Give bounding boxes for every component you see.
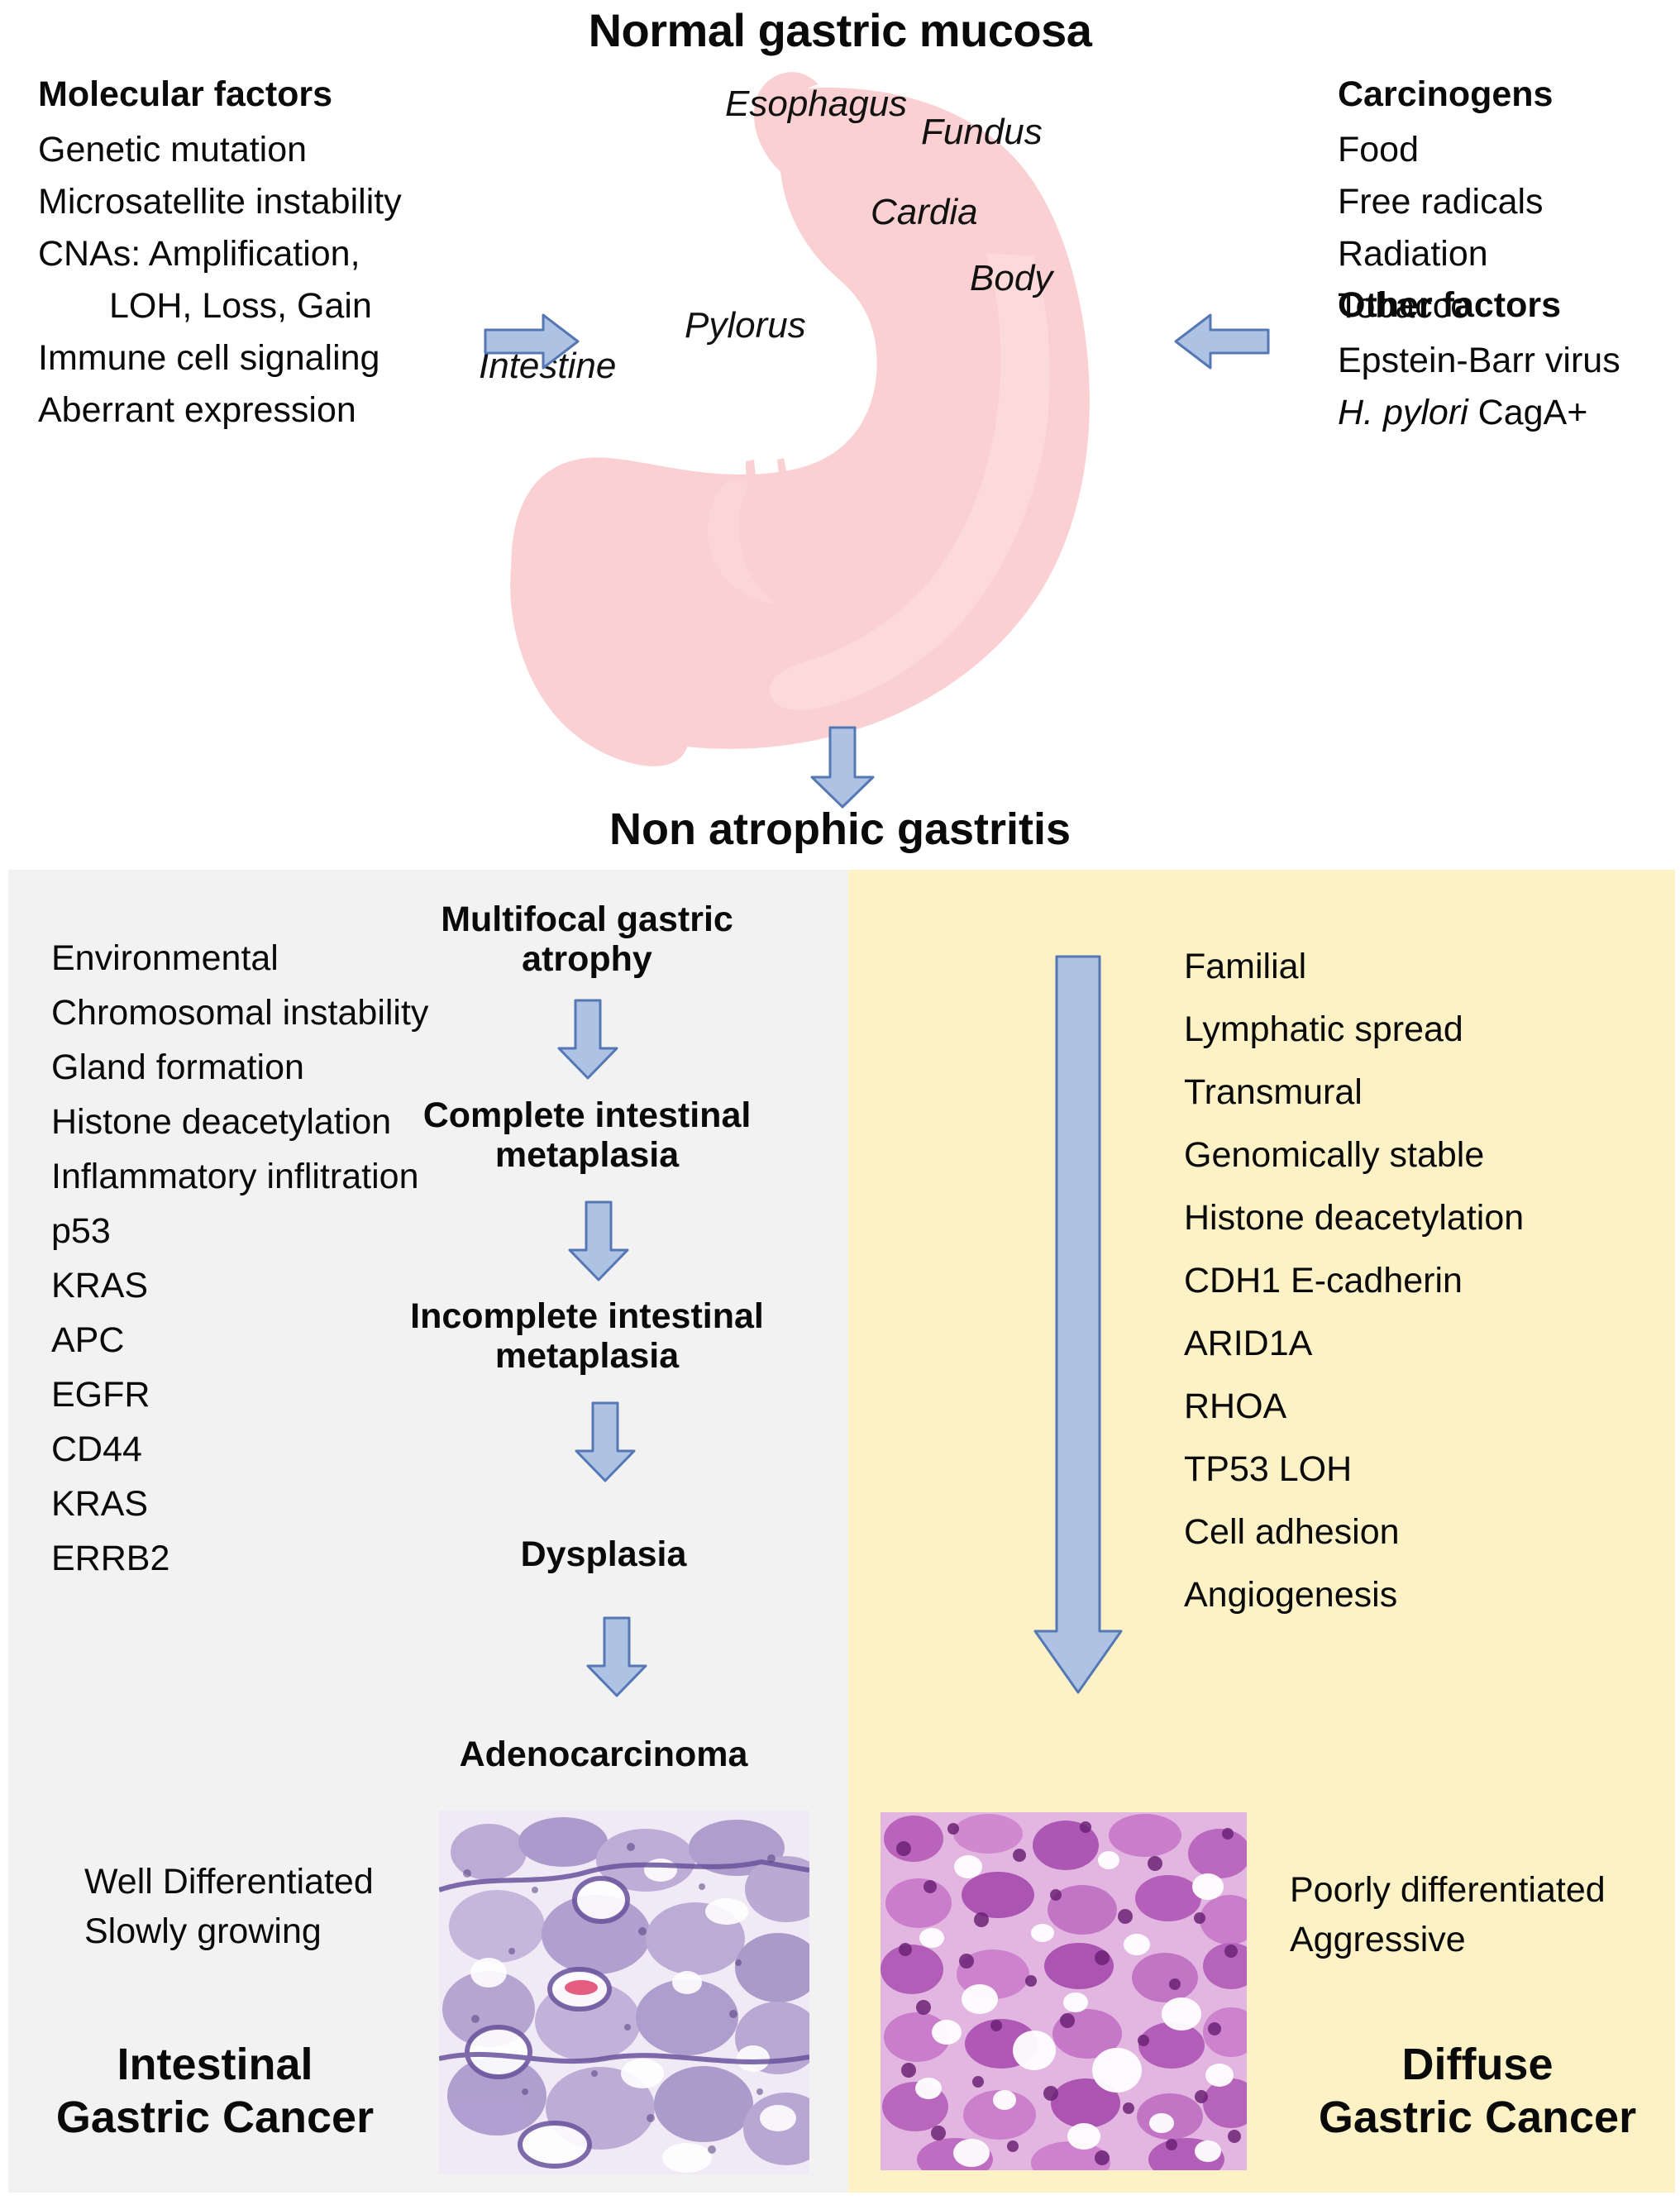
stage-1-line2: metaplasia: [356, 1135, 819, 1175]
arrow-incomplete-metaplasia-to-dysplasia: [573, 1401, 637, 1482]
stage-incomplete-intestinal-metaplasia: Incomplete intestinal metaplasia: [347, 1296, 827, 1376]
stage-4-line1: Adenocarcinoma: [372, 1735, 835, 1774]
arrow-long-diffuse-pathway: [1033, 955, 1124, 1695]
arrow-atrophy-to-complete-metaplasia: [556, 999, 620, 1080]
stomach-label-cardia: Cardia: [871, 192, 978, 233]
diffuse-feature-6: ARID1A: [1184, 1324, 1524, 1364]
diffuse-notes: Poorly differentiated Aggressive: [1290, 1870, 1606, 1960]
intestinal-feature-8: EGFR: [51, 1375, 428, 1415]
diffuse-feature-9: Cell adhesion: [1184, 1512, 1524, 1553]
diffuse-feature-4: Histone deacetylation: [1184, 1198, 1524, 1238]
stage-2-line2: metaplasia: [347, 1336, 827, 1376]
diffuse-feature-3: Genomically stable: [1184, 1135, 1524, 1176]
diffuse-feature-0: Familial: [1184, 947, 1524, 987]
arrow-dysplasia-to-adenocarcinoma: [585, 1616, 649, 1697]
stage-3-line1: Dysplasia: [397, 1534, 810, 1574]
hpylori-suffix: CagA+: [1468, 393, 1588, 432]
arrow-right-into-stomach: [484, 312, 580, 371]
intestinal-note-1: Slowly growing: [84, 1911, 374, 1952]
intestinal-feature-2: Gland formation: [51, 1048, 428, 1088]
diffuse-feature-1: Lymphatic spread: [1184, 1009, 1524, 1050]
stomach-label-body: Body: [970, 258, 1052, 299]
stomach-label-pylorus: Pylorus: [685, 305, 806, 346]
diffuse-feature-2: Transmural: [1184, 1072, 1524, 1113]
diffuse-feature-5: CDH1 E-cadherin: [1184, 1261, 1524, 1301]
stomach-illustration: [463, 66, 1191, 777]
molecular-factor-item-0: Genetic mutation: [38, 130, 402, 170]
carcinogen-item-1: Free radicals: [1338, 182, 1553, 222]
diffuse-feature-7: RHOA: [1184, 1386, 1524, 1427]
hpylori-italic: H. pylori: [1338, 393, 1468, 432]
intestinal-feature-5: p53: [51, 1211, 428, 1252]
intestinal-feature-11: ERRB2: [51, 1539, 428, 1579]
intestinal-cancer-title: Intestinal Gastric Cancer: [17, 2039, 413, 2144]
intestinal-cancer-title-line1: Intestinal: [17, 2039, 413, 2092]
stage-dysplasia: Dysplasia: [397, 1534, 810, 1574]
intestinal-cancer-title-line2: Gastric Cancer: [17, 2092, 413, 2145]
carcinogen-item-2: Radiation: [1338, 234, 1553, 274]
diffuse-cancer-title-line1: Diffuse: [1283, 2039, 1672, 2092]
histology-image-diffuse: [881, 1812, 1247, 2170]
stage-adenocarcinoma: Adenocarcinoma: [372, 1735, 835, 1774]
histology-image-intestinal: [439, 1811, 809, 2174]
other-factor-item-hpylori: H. pylori CagA+: [1338, 393, 1620, 433]
stage-complete-intestinal-metaplasia: Complete intestinal metaplasia: [356, 1095, 819, 1175]
molecular-factors-heading: Molecular factors: [38, 74, 402, 115]
other-factors-heading: Other factors: [1338, 285, 1620, 326]
page-title: Normal gastric mucosa: [0, 3, 1680, 57]
intestinal-feature-9: CD44: [51, 1429, 428, 1470]
molecular-factors-block: Molecular factors Genetic mutation Micro…: [38, 74, 402, 431]
stage-0-line1: Multifocal gastric: [372, 900, 802, 939]
molecular-factor-item-1: Microsatellite instability: [38, 182, 402, 222]
diffuse-cancer-title: Diffuse Gastric Cancer: [1283, 2039, 1672, 2144]
diffuse-feature-list: Familial Lymphatic spread Transmural Gen…: [1184, 947, 1524, 1615]
carcinogens-heading: Carcinogens: [1338, 74, 1553, 115]
carcinogen-item-0: Food: [1338, 130, 1553, 170]
stomach-label-esophagus: Esophagus: [725, 84, 907, 125]
molecular-factor-item-3: LOH, Loss, Gain: [38, 286, 402, 327]
stomach-label-fundus: Fundus: [921, 112, 1043, 153]
mid-heading-non-atrophic-gastritis: Non atrophic gastritis: [0, 804, 1680, 855]
stage-1-line1: Complete intestinal: [356, 1095, 819, 1135]
stage-0-line2: atrophy: [372, 939, 802, 979]
molecular-factor-item-5: Aberrant expression: [38, 390, 402, 431]
intestinal-feature-1: Chromosomal instability: [51, 993, 428, 1033]
diffuse-note-0: Poorly differentiated: [1290, 1870, 1606, 1911]
stage-multifocal-gastric-atrophy: Multifocal gastric atrophy: [372, 900, 802, 979]
diffuse-feature-10: Angiogenesis: [1184, 1575, 1524, 1615]
arrow-complete-to-incomplete-metaplasia: [566, 1200, 631, 1281]
molecular-factor-item-4: Immune cell signaling: [38, 338, 402, 379]
stage-2-line1: Incomplete intestinal: [347, 1296, 827, 1336]
intestinal-note-0: Well Differentiated: [84, 1862, 374, 1902]
intestinal-feature-list: Environmental Chromosomal instability Gl…: [51, 938, 428, 1579]
molecular-factor-item-2: CNAs: Amplification,: [38, 234, 402, 274]
diffuse-note-1: Aggressive: [1290, 1920, 1606, 1960]
diffuse-feature-8: TP53 LOH: [1184, 1449, 1524, 1490]
intestinal-notes: Well Differentiated Slowly growing: [84, 1862, 374, 1952]
diffuse-cancer-title-line2: Gastric Cancer: [1283, 2092, 1672, 2145]
arrow-left-into-stomach: [1174, 312, 1270, 371]
diagram-root: Normal gastric mucosa Esophagus Fundus C…: [0, 0, 1680, 2200]
other-factors-block: Other factors Epstein-Barr virus H. pylo…: [1338, 285, 1620, 433]
arrow-down-to-gastritis: [809, 726, 876, 809]
other-factor-item-0: Epstein-Barr virus: [1338, 341, 1620, 381]
intestinal-feature-10: KRAS: [51, 1484, 428, 1525]
